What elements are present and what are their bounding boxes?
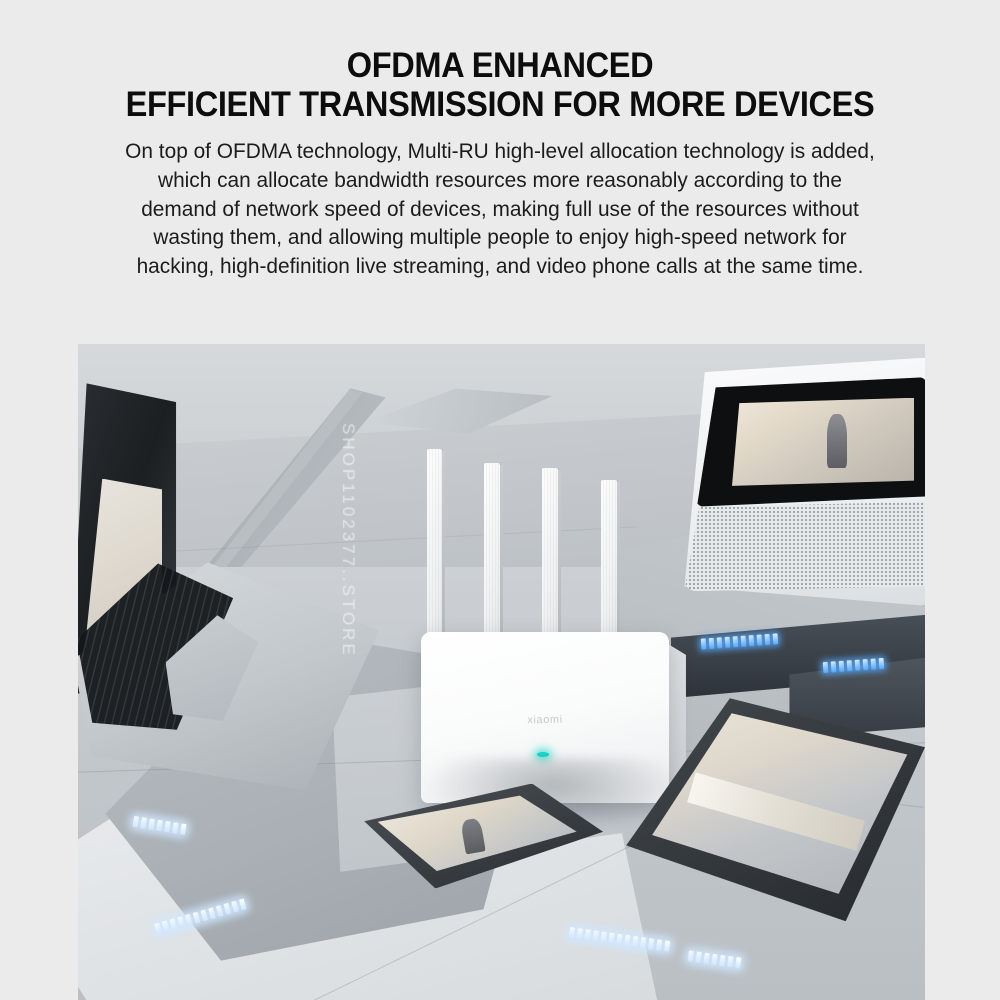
smartphone-video-person [460, 817, 485, 854]
description-paragraph: On top of OFDMA technology, Multi-RU hig… [15, 137, 985, 280]
smartphone-device [349, 784, 603, 889]
video-call-content [732, 398, 914, 486]
router-antenna [427, 449, 443, 639]
xiaomi-logo: xiaomi [527, 714, 563, 727]
page-title: OFDMA ENHANCED EFFICIENT TRANSMISSION FO… [35, 46, 965, 124]
router-status-led [537, 752, 549, 757]
router-antenna [484, 463, 500, 640]
router-antenna [601, 480, 617, 640]
text-block: OFDMA ENHANCED EFFICIENT TRANSMISSION FO… [0, 0, 1000, 280]
smart-display-screen [695, 377, 925, 507]
speaker-grille [684, 502, 925, 592]
page-title-line-1: OFDMA ENHANCED [347, 46, 653, 85]
description-line-5: hacking, high-definition live streaming,… [38, 252, 961, 281]
tablet-device [620, 698, 925, 921]
description-line-4: wasting them, and allowing multiple peop… [38, 223, 961, 252]
product-scene-photo: xiaomi SHOP1102377..STORE [78, 344, 925, 1000]
page-title-line-2: EFFICIENT TRANSMISSION FOR MORE DEVICES [35, 85, 965, 124]
description-line-1: On top of OFDMA technology, Multi-RU hig… [38, 137, 961, 166]
router-antenna [542, 468, 558, 639]
video-call-person [827, 414, 847, 469]
description-line-3: demand of network speed of devices, maki… [38, 195, 961, 224]
laptop-device [78, 383, 425, 816]
tablet-screen-content [687, 772, 864, 851]
smart-display-device [679, 357, 925, 606]
description-line-2: which can allocate bandwidth resources m… [38, 166, 961, 195]
